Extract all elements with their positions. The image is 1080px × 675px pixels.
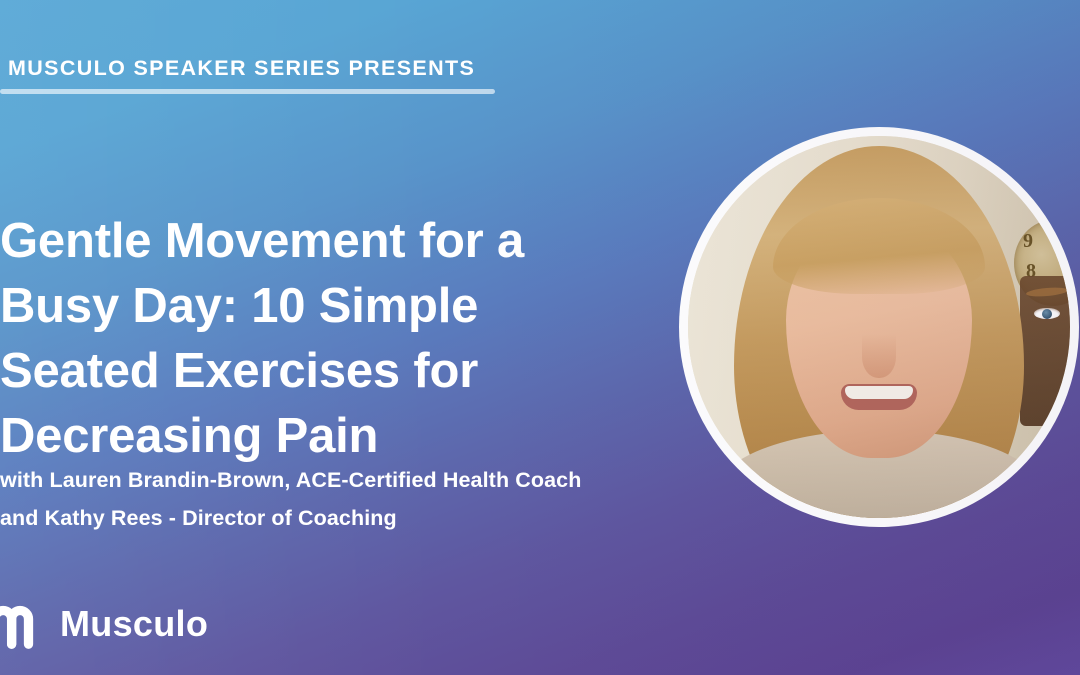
speaker-portrait — [679, 127, 1079, 527]
title-line-2: Busy Day: 10 Simple — [0, 274, 700, 339]
title-line-1: Gentle Movement for a — [0, 209, 700, 274]
title-line-4: Decreasing Pain — [0, 404, 700, 469]
portrait-furniture — [1020, 276, 1070, 426]
eyebrow-text: MUSCULO SPEAKER SERIES PRESENTS — [0, 54, 497, 82]
brand-lockup: Musculo — [0, 597, 208, 651]
slide-title: Gentle Movement for a Busy Day: 10 Simpl… — [0, 209, 700, 469]
presenter-credits: with Lauren Brandin-Brown, ACE-Certified… — [0, 461, 720, 537]
musculo-m-logo-icon — [0, 597, 42, 651]
title-line-3: Seated Exercises for — [0, 339, 700, 404]
portrait-nose — [862, 334, 896, 378]
portrait-teeth — [845, 386, 913, 399]
portrait-mouth — [841, 384, 917, 410]
presenter-line-2: and Kathy Rees - Director of Coaching — [0, 499, 720, 537]
portrait-eye-left — [1034, 308, 1060, 319]
eyebrow-block: MUSCULO SPEAKER SERIES PRESENTS — [0, 54, 497, 94]
presentation-slide: MUSCULO SPEAKER SERIES PRESENTS Gentle M… — [0, 0, 1080, 675]
brand-name-text: Musculo — [60, 606, 208, 642]
speaker-portrait-image — [688, 136, 1070, 518]
eyebrow-divider — [0, 89, 495, 94]
presenter-line-1: with Lauren Brandin-Brown, ACE-Certified… — [0, 461, 720, 499]
